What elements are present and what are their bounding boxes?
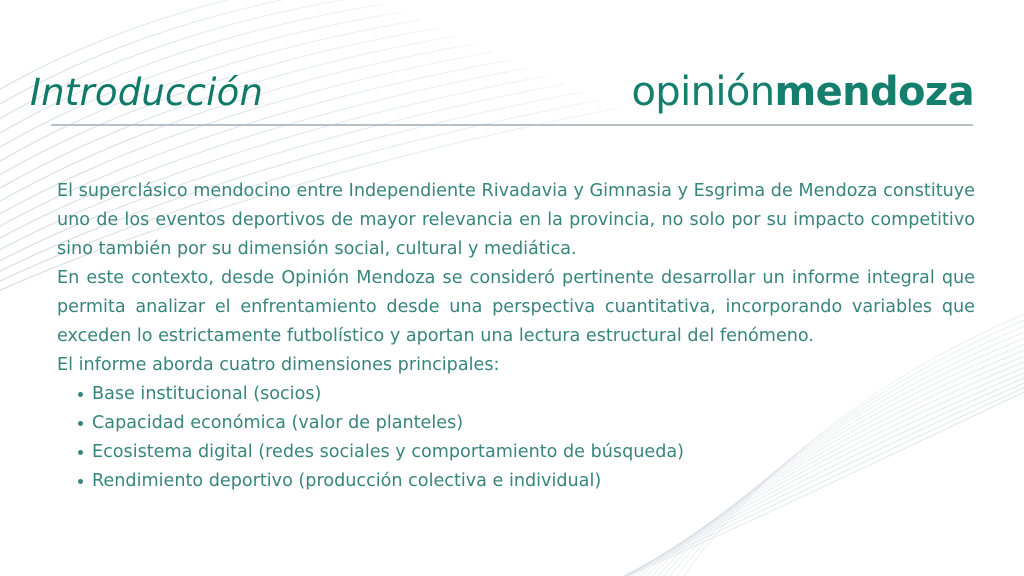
paragraph-context: En este contexto, desde Opinión Mendoza … — [57, 264, 975, 351]
slide-body: El superclásico mendocino entre Independ… — [57, 177, 975, 496]
bullet-dot-icon — [78, 450, 83, 455]
bullet-dot-icon — [78, 392, 83, 397]
brand-logo: opiniónmendoza — [631, 72, 974, 112]
slide-header: Introducción opiniónmendoza — [0, 0, 1024, 132]
list-item-label: Base institucional (socios) — [92, 384, 321, 404]
bullet-dot-icon — [78, 421, 83, 426]
header-divider — [51, 124, 973, 126]
list-item-label: Ecosistema digital (redes sociales y com… — [92, 442, 684, 462]
list-item-label: Capacidad económica (valor de planteles) — [92, 413, 463, 433]
paragraph-intro: El superclásico mendocino entre Independ… — [57, 177, 975, 264]
list-intro: El informe aborda cuatro dimensiones pri… — [57, 351, 975, 380]
dimensions-list: Base institucional (socios) Capacidad ec… — [57, 380, 975, 496]
list-item-label: Rendimiento deportivo (producción colect… — [92, 471, 601, 491]
list-item: Ecosistema digital (redes sociales y com… — [57, 438, 975, 467]
page-title: Introducción — [30, 74, 263, 111]
list-item: Rendimiento deportivo (producción colect… — [57, 467, 975, 496]
list-item: Capacidad económica (valor de planteles) — [57, 409, 975, 438]
presentation-slide: Introducción opiniónmendoza El superclás… — [0, 0, 1024, 576]
list-item: Base institucional (socios) — [57, 380, 975, 409]
brand-name-light: opinión — [631, 69, 774, 115]
brand-name-bold: mendoza — [775, 69, 974, 115]
bullet-dot-icon — [78, 479, 83, 484]
